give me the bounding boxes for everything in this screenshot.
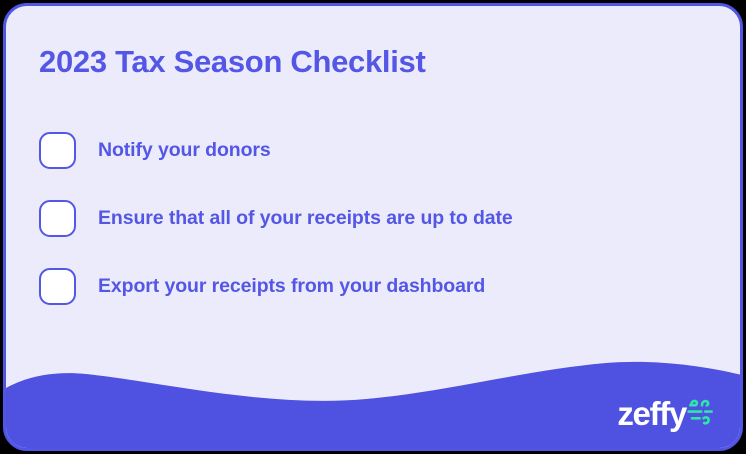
wind-icon (687, 398, 714, 427)
list-item-label: Ensure that all of your receipts are up … (98, 207, 513, 230)
checklist: Notify your donors Ensure that all of yo… (39, 132, 709, 336)
zeffy-logo: zeffy (617, 397, 714, 430)
list-item[interactable]: Export your receipts from your dashboard (39, 268, 709, 304)
tax-season-checklist-card: 2023 Tax Season Checklist Notify your do… (3, 3, 743, 451)
checkbox-export-receipts-from-dashboard[interactable] (39, 268, 76, 305)
list-item[interactable]: Ensure that all of your receipts are up … (39, 200, 709, 236)
list-item[interactable]: Notify your donors (39, 132, 709, 168)
checkbox-notify-your-donors[interactable] (39, 132, 76, 169)
screenshot-canvas: 2023 Tax Season Checklist Notify your do… (0, 0, 746, 454)
page-title: 2023 Tax Season Checklist (39, 44, 426, 80)
zeffy-wordmark: zeffy (617, 397, 686, 430)
list-item-label: Export your receipts from your dashboard (98, 275, 485, 298)
list-item-label: Notify your donors (98, 139, 271, 162)
checkbox-ensure-receipts-up-to-date[interactable] (39, 200, 76, 237)
